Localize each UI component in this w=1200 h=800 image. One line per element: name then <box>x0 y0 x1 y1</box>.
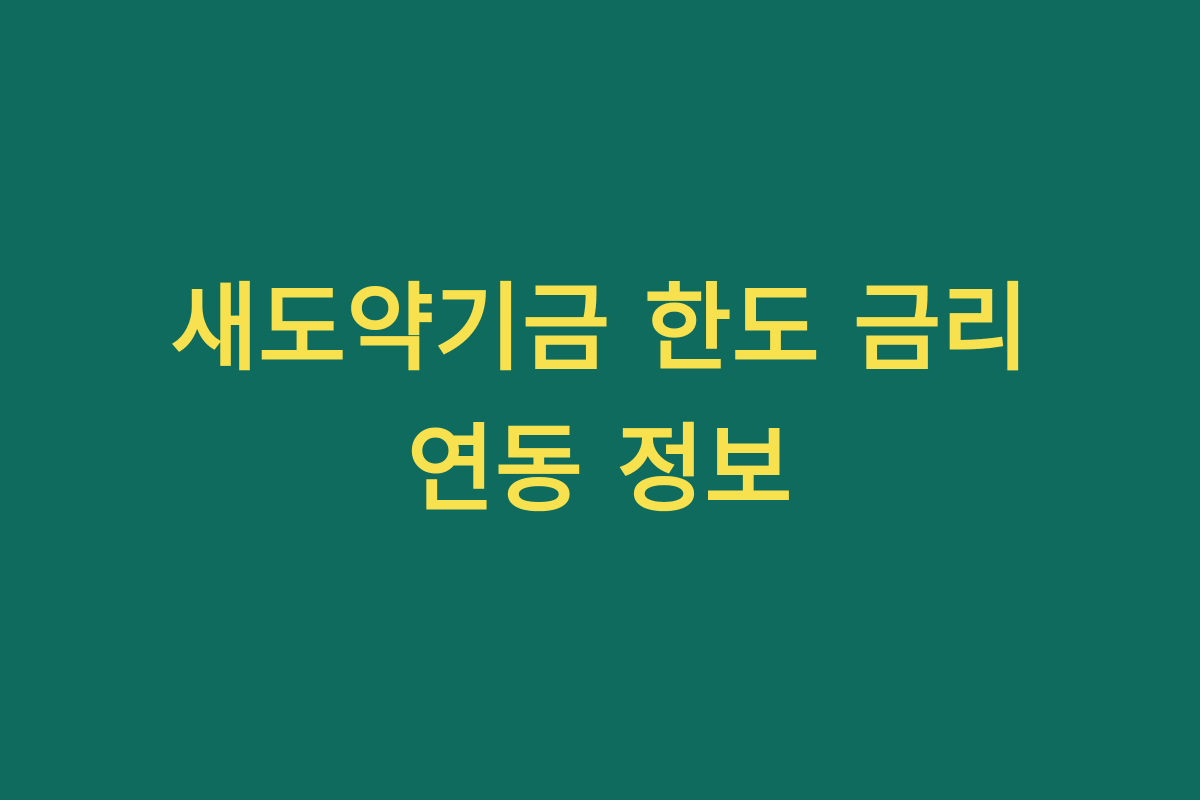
banner-canvas: 새도약기금 한도 금리 연동 정보 <box>0 0 1200 800</box>
banner-title-text: 새도약기금 한도 금리 연동 정보 <box>70 259 1130 540</box>
